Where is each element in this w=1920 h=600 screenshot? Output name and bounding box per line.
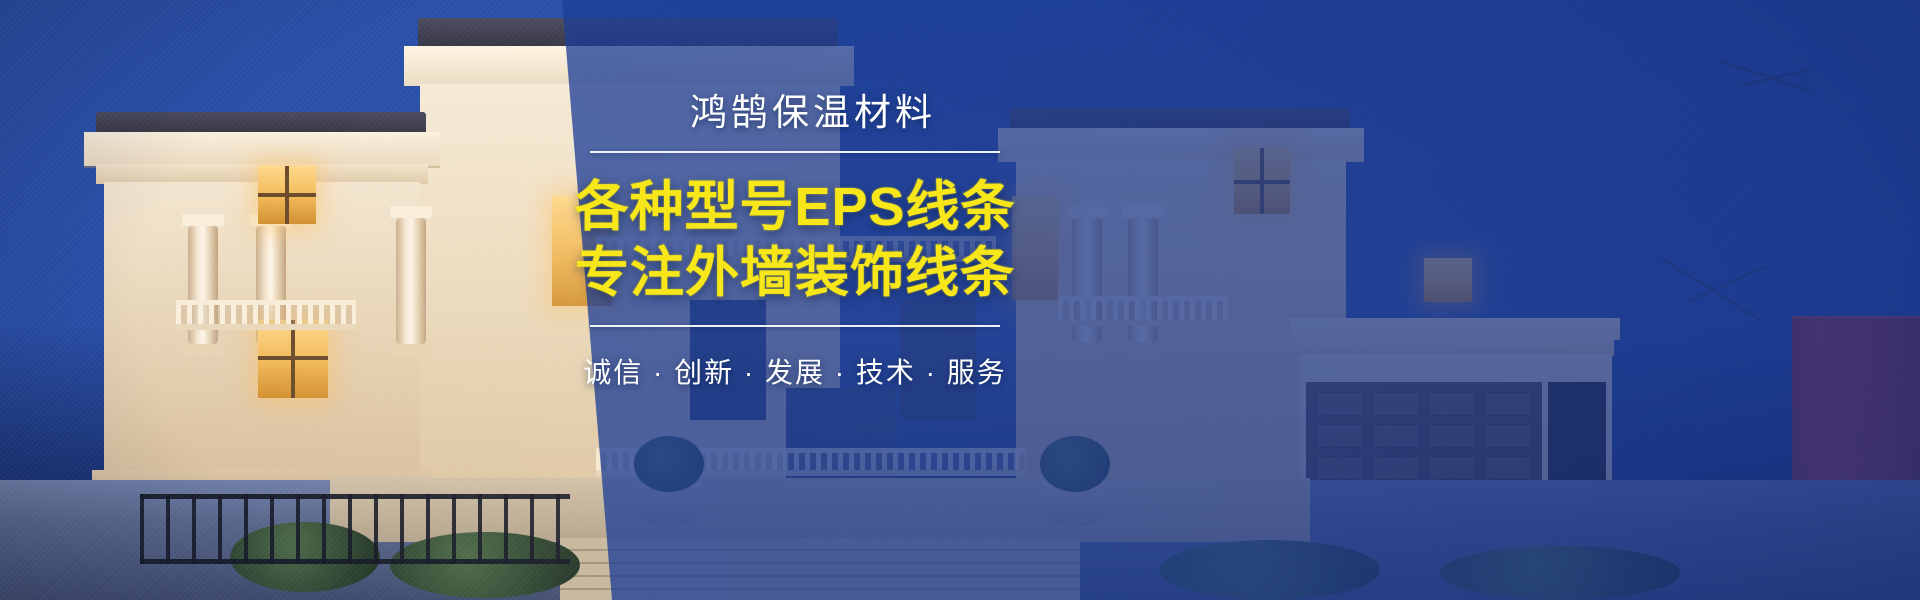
headline-line-1: 各种型号EPS线条 <box>560 177 1030 237</box>
brand-name: 鸿鹄保温材料 <box>560 92 1030 135</box>
column-base <box>390 344 432 356</box>
left-wing-cornice <box>84 132 440 166</box>
hero-banner: 鸿鹄保温材料 各种型号EPS线条 专注外墙装饰线条 诚信 · 创新 · 发展 ·… <box>0 0 1920 600</box>
column-capital <box>182 214 224 226</box>
divider-bottom <box>590 325 1000 327</box>
window-mullion <box>258 193 316 197</box>
column-base <box>182 344 224 356</box>
window-mullion <box>258 356 328 360</box>
iron-fence <box>140 494 570 564</box>
balustrade <box>176 300 356 330</box>
column <box>396 218 426 344</box>
banner-copy: 鸿鹄保温材料 各种型号EPS线条 专注外墙装饰线条 诚信 · 创新 · 发展 ·… <box>560 92 1030 391</box>
headline-line-2: 专注外墙装饰线条 <box>560 243 1030 303</box>
tagline: 诚信 · 创新 · 发展 · 技术 · 服务 <box>560 351 1030 391</box>
column-capital <box>390 206 432 218</box>
divider-top <box>590 151 1000 153</box>
